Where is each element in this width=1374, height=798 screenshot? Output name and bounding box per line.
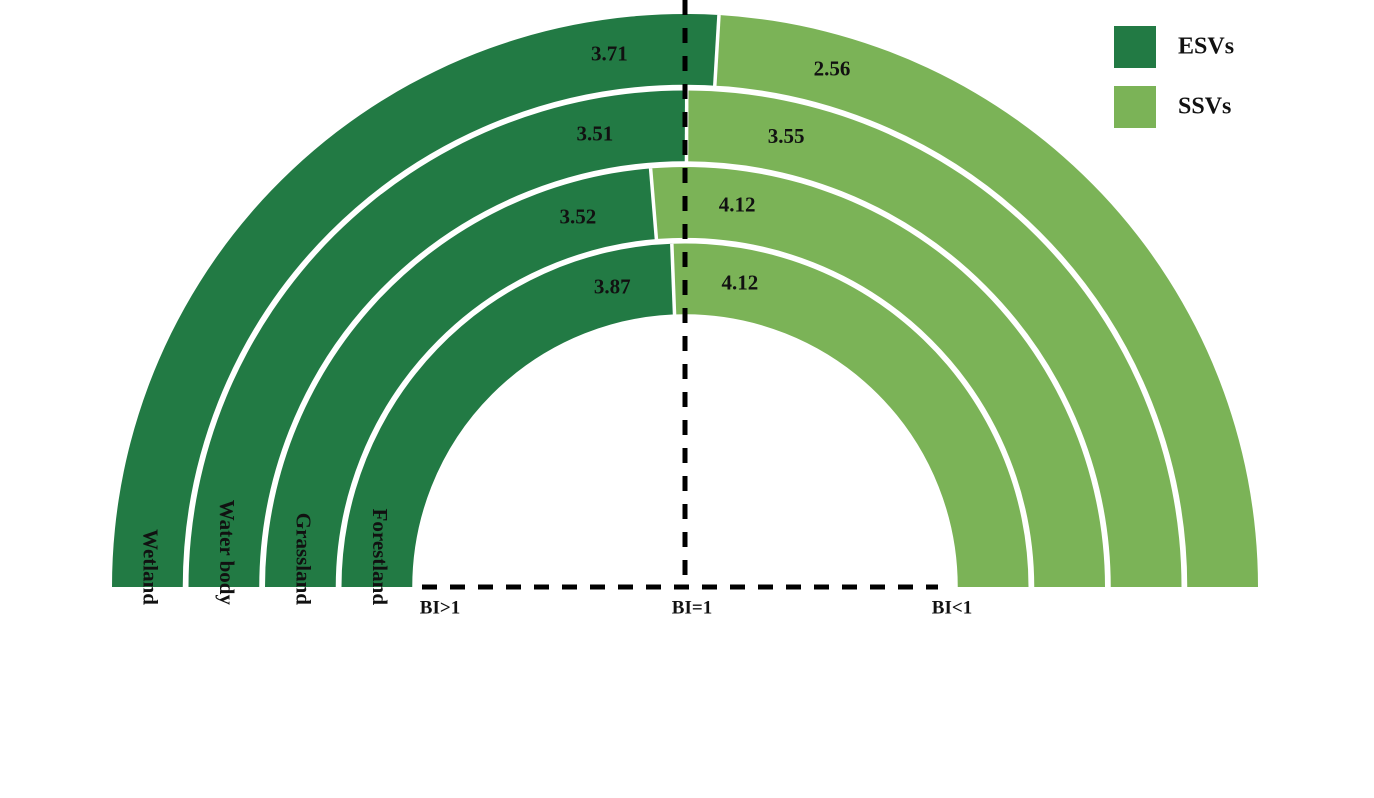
axis-tick-left: BI>1 <box>420 597 460 618</box>
value-label-wetland-esv: 3.71 <box>591 41 628 65</box>
axis-tick-right: BI<1 <box>932 597 972 618</box>
legend-swatch-ssvs[interactable] <box>1114 86 1156 128</box>
value-label-water-body-ssv: 3.55 <box>768 124 805 148</box>
value-label-grassland-esv: 3.52 <box>560 204 597 228</box>
axis-tick-center: BI=1 <box>672 597 712 618</box>
category-label-grassland: Grassland <box>291 513 315 606</box>
value-label-forestland-esv: 3.87 <box>594 274 631 298</box>
category-label-wetland: Wetland <box>138 529 162 605</box>
value-label-grassland-ssv: 4.12 <box>719 193 756 217</box>
chart-svg: 3.712.563.513.553.524.123.874.12WetlandW… <box>0 0 1374 793</box>
value-label-wetland-ssv: 2.56 <box>814 57 851 81</box>
legend-swatch-esvs[interactable] <box>1114 26 1156 68</box>
category-label-forestland: Forestland <box>368 509 392 606</box>
polar-stacked-bar-chart: 3.712.563.513.553.524.123.874.12WetlandW… <box>0 0 1374 793</box>
value-label-forestland-ssv: 4.12 <box>722 271 759 295</box>
value-label-water-body-esv: 3.51 <box>576 121 613 145</box>
category-label-water-body: Water body <box>215 500 239 606</box>
legend-label-esvs: ESVs <box>1178 34 1234 60</box>
legend-label-ssvs: SSVs <box>1178 94 1231 120</box>
legend: ESVsSSVs <box>1114 26 1234 128</box>
